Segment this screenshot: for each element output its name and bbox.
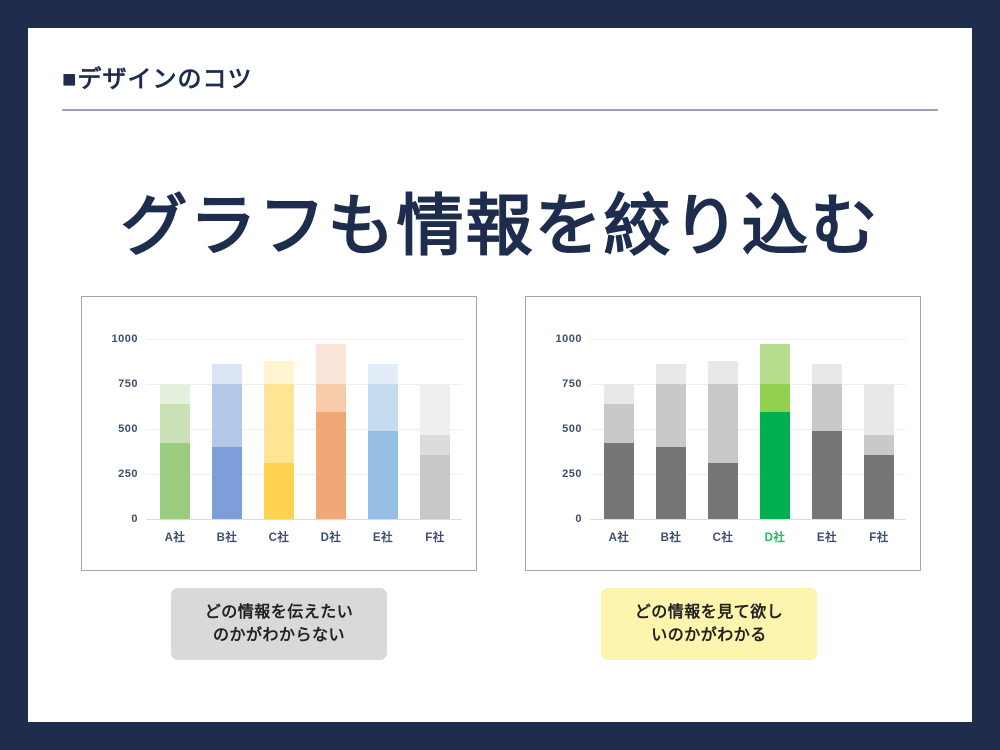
bar-column [864, 339, 894, 519]
bar-segment-1 [864, 455, 894, 519]
y-tick-label: 750 [536, 378, 582, 390]
y-tick-label: 0 [92, 513, 138, 525]
bar-segment-2 [812, 384, 842, 431]
caption-before-line2: のかがわからない [213, 624, 345, 647]
chart-plot-before: 10007505002500 A社B社C社D社E社F社 [82, 297, 476, 570]
y-tick-label: 1000 [536, 333, 582, 345]
bar-stack [368, 364, 398, 519]
page-title: グラフも情報を絞り込む [28, 193, 972, 260]
bar-column [760, 339, 790, 519]
bar-segment-3 [368, 364, 398, 384]
y-tick-label: 1000 [92, 333, 138, 345]
bar-area-before: A社B社C社D社E社F社 [146, 297, 462, 570]
bar-stack [708, 361, 738, 519]
bar-column [160, 339, 190, 519]
bar-segment-2 [264, 384, 294, 463]
x-axis-label-before-2: C社 [249, 529, 309, 545]
bar-column [316, 339, 346, 519]
y-tick-label: 750 [92, 378, 138, 390]
bar-segment-3 [160, 384, 190, 404]
bar-stack [656, 364, 686, 519]
bar-segment-3 [864, 384, 894, 435]
bar-segment-3 [604, 384, 634, 404]
y-tick-label: 500 [92, 423, 138, 435]
bar-segment-1 [760, 412, 790, 519]
bar-segment-1 [212, 447, 242, 519]
x-axis-label-after-3: D社 [745, 529, 805, 545]
bar-segment-2 [420, 435, 450, 454]
slide-header: ■デザインのコツ [62, 66, 938, 111]
bar-column [604, 339, 634, 519]
chart-plot-after: 10007505002500 A社B社C社D社E社F社 [526, 297, 920, 570]
bar-stack [864, 384, 894, 519]
bar-segment-2 [656, 384, 686, 447]
bar-segment-1 [604, 443, 634, 519]
caption-before-line1: どの情報を伝えたい [205, 601, 354, 624]
x-axis-label-after-2: C社 [693, 529, 753, 545]
bar-stack [760, 344, 790, 519]
bar-segment-1 [656, 447, 686, 519]
bar-column [420, 339, 450, 519]
chart-panel-before: 10007505002500 A社B社C社D社E社F社 [81, 296, 477, 571]
x-axis-label-after-4: E社 [797, 529, 857, 545]
x-axis-label-before-1: B社 [197, 529, 257, 545]
bar-segment-3 [264, 361, 294, 384]
y-tick-label: 250 [92, 468, 138, 480]
bar-segment-3 [708, 361, 738, 384]
caption-after-line2: いのかがわかる [651, 624, 767, 647]
bar-area-after: A社B社C社D社E社F社 [590, 297, 906, 570]
bar-segment-3 [212, 364, 242, 384]
bar-stack [212, 364, 242, 519]
bar-segment-2 [604, 404, 634, 443]
caption-after-line1: どの情報を見て欲し [635, 601, 784, 624]
bar-segment-1 [160, 443, 190, 519]
bar-stack [604, 384, 634, 519]
x-axis-label-after-0: A社 [589, 529, 649, 545]
bar-segment-3 [316, 344, 346, 384]
bar-stack [812, 364, 842, 519]
bar-column [708, 339, 738, 519]
bar-segment-1 [264, 463, 294, 519]
caption-before: どの情報を伝えたい のかがわからない [171, 588, 387, 660]
bar-segment-1 [708, 463, 738, 519]
header-divider [62, 109, 938, 111]
bar-column [264, 339, 294, 519]
bar-column [212, 339, 242, 519]
y-tick-label: 0 [536, 513, 582, 525]
y-axis-ticks-after: 10007505002500 [536, 297, 582, 570]
caption-after: どの情報を見て欲し いのかがわかる [601, 588, 817, 660]
slide-canvas: ■デザインのコツ グラフも情報を絞り込む 10007505002500 A社B社… [28, 28, 972, 722]
bar-segment-2 [368, 384, 398, 431]
bar-segment-1 [316, 412, 346, 519]
bar-segment-2 [708, 384, 738, 463]
y-tick-label: 500 [536, 423, 582, 435]
bar-segment-2 [160, 404, 190, 443]
y-tick-label: 250 [536, 468, 582, 480]
bar-column [656, 339, 686, 519]
x-axis-label-before-3: D社 [301, 529, 361, 545]
bar-segment-1 [420, 455, 450, 519]
bar-segment-1 [368, 431, 398, 519]
bar-segment-3 [812, 364, 842, 384]
bar-segment-2 [864, 435, 894, 454]
header-title: ■デザインのコツ [62, 66, 938, 95]
x-axis-label-before-0: A社 [145, 529, 205, 545]
x-axis-label-after-5: F社 [849, 529, 909, 545]
x-axis-label-before-4: E社 [353, 529, 413, 545]
bar-stack [420, 384, 450, 519]
bar-segment-3 [656, 364, 686, 384]
bar-segment-2 [212, 384, 242, 447]
bar-segment-3 [420, 384, 450, 435]
bar-column [368, 339, 398, 519]
y-axis-ticks-before: 10007505002500 [92, 297, 138, 570]
bar-segment-2 [316, 384, 346, 412]
bar-stack [264, 361, 294, 519]
chart-panel-after: 10007505002500 A社B社C社D社E社F社 [525, 296, 921, 571]
bar-column [812, 339, 842, 519]
bar-segment-1 [812, 431, 842, 519]
bar-segment-2 [760, 384, 790, 412]
x-axis-label-after-1: B社 [641, 529, 701, 545]
bar-stack [160, 384, 190, 519]
bar-stack [316, 344, 346, 519]
bar-segment-3 [760, 344, 790, 384]
x-axis-label-before-5: F社 [405, 529, 465, 545]
